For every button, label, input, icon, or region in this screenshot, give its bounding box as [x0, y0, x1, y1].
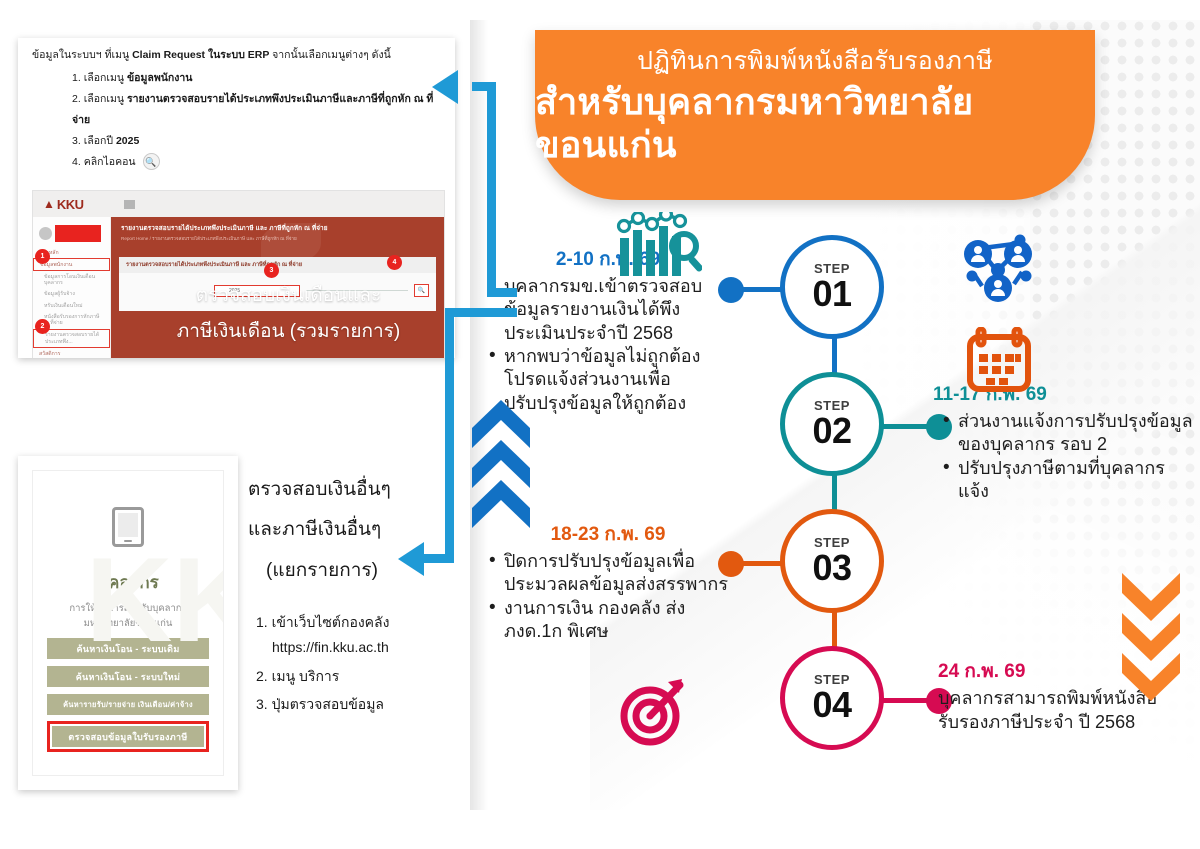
- connector-bottom-vertical: [445, 308, 454, 563]
- doc-step-3-num: 3.: [72, 135, 81, 147]
- timeline-panel: ปฏิทินการพิมพ์หนังสือรับรองภาษี สำหรับบุ…: [470, 20, 1200, 810]
- target-icon: [618, 674, 690, 751]
- annotation-step-1-text: เข้าเว็บไซต์กองคลัง: [272, 614, 390, 630]
- erp-overlay-caption: ตรวจสอบเงินเดือนและ ภาษีเงินเดือน (รวมรา…: [128, 278, 449, 350]
- erp-instructions-card: ข้อมูลในระบบฯ ที่เมนู Claim Request ในระ…: [18, 38, 455, 358]
- doc-step-2: 2. เลือกเมนู รายงานตรวจสอบรายได้ประเภทพึ…: [72, 89, 443, 131]
- callout-badge-1: 1: [35, 249, 50, 264]
- hamburger-icon[interactable]: [124, 200, 135, 209]
- tablet-icon: [112, 507, 144, 547]
- doc-step-4: 4. คลิกไอคอน 🔍: [72, 152, 443, 173]
- overlay-line-1: ตรวจสอบเงินเดือนและ: [128, 278, 449, 314]
- watermark: KK: [86, 531, 224, 669]
- step-circle-1[interactable]: STEP 01: [780, 235, 884, 339]
- btn-check-tax-cert-highlight: ตรวจสอบข้อมูลใบรับรองภาษี: [47, 721, 209, 752]
- kku-logo: KKU: [57, 197, 84, 212]
- btn-check-tax-cert[interactable]: ตรวจสอบข้อมูลใบรับรองภาษี: [52, 726, 204, 747]
- step-3-bullet-0: ปิดการปรับปรุงข้อมูลเพื่อประมวลผลข้อมูลส…: [488, 550, 728, 597]
- doc-step-3-text: เลือกปี: [84, 135, 116, 147]
- kku-service-card: KK บุคลากร การให้บริการสำหรับบุคลากร มหา…: [18, 456, 238, 790]
- doc-step-2-bold: รายงานตรวจสอบรายได้ประเภทพึงประเมินภาษีแ…: [72, 93, 433, 126]
- step-number-4: 04: [812, 687, 851, 723]
- annotation-step-1: 1. เข้าเว็บไซต์กองคลัง https://fin.kku.a…: [256, 613, 448, 657]
- overlay-line-2: ภาษีเงินเดือน (รวมรายการ): [128, 314, 449, 350]
- callout-badge-4: 4: [387, 255, 402, 270]
- sidebar-item-transfer-data[interactable]: ข้อมูลการโอนเงินเดือนบุคลากร: [33, 271, 110, 288]
- btn-find-income-expense[interactable]: ค้นหารายรับ/รายจ่าย เงินเดือน/ค่าจ้าง: [47, 694, 209, 715]
- annotation-step-3: 3. ปุ่มตรวจสอบข้อมูล: [256, 695, 448, 714]
- step-2-bullet-1: ปรับปรุงภาษีตามที่บุคลากรแจ้ง: [942, 457, 1195, 504]
- callout-badge-3: 3: [264, 263, 279, 278]
- redacted-name-bar: [55, 225, 101, 242]
- decor-leaf-1: [261, 223, 321, 263]
- annotation-step-2-text: เมนู บริการ: [272, 668, 340, 684]
- erp-sidebar: หน้าหลัก ข้อมูลพนักงาน ข้อมูลการโอนเงินเ…: [33, 217, 111, 358]
- doc-header: ข้อมูลในระบบฯ ที่เมนู Claim Request ในระ…: [18, 38, 455, 177]
- connector-top-tail: [487, 288, 517, 297]
- step-2-text-block: 11-17 ก.พ. 69 ส่วนงานแจ้งการปรับปรุงข้อม…: [933, 383, 1195, 503]
- doc-step-3: 3. เลือกปี 2025: [72, 131, 443, 152]
- step-2-bullet-0: ส่วนงานแจ้งการปรับปรุงข้อมูลของบุคลากร ร…: [942, 410, 1195, 457]
- doc-step-1-text: เลือกเมนู: [84, 72, 127, 84]
- doc-intro-bold-claim: Claim Request: [132, 49, 205, 61]
- step-circle-3[interactable]: STEP 03: [780, 509, 884, 613]
- erp-avatar-row: [33, 223, 110, 247]
- step-circle-4[interactable]: STEP 04: [780, 646, 884, 750]
- btn-find-transfer-new[interactable]: ค้นหาเงินโอน - ระบบใหม่: [47, 666, 209, 687]
- kku-flame-icon: ▲: [43, 197, 55, 211]
- doc-step-1: 1. เลือกเมนู ข้อมูลพนักงาน: [72, 68, 443, 89]
- annotation-block: ตรวจสอบเงินอื่นๆ และภาษีเงินอื่นๆ (แยกรา…: [248, 470, 448, 724]
- connector-bottom-tail: [422, 554, 454, 563]
- annotation-step-1-url[interactable]: https://fin.kku.ac.th: [272, 638, 448, 657]
- doc-intro-line: ข้อมูลในระบบฯ ที่เมนู Claim Request ในระ…: [32, 48, 443, 64]
- connector-top-vertical: [487, 82, 496, 297]
- annotation-step-3-num: 3.: [256, 696, 268, 712]
- doc-intro-suffix: จากนั้นเลือกเมนูต่างๆ ดังนี้: [272, 49, 391, 61]
- step-circle-2[interactable]: STEP 02: [780, 372, 884, 476]
- step-3-bullets: ปิดการปรับปรุงข้อมูลเพื่อประมวลผลข้อมูลส…: [488, 550, 728, 644]
- annotation-steps: 1. เข้าเว็บไซต์กองคลัง https://fin.kku.a…: [256, 613, 448, 715]
- chevron-down-stack-orange: [1118, 565, 1184, 713]
- doc-step-1-num: 1.: [72, 72, 81, 84]
- doc-step-4-num: 4.: [72, 156, 81, 168]
- infographic-page: ปฏิทินการพิมพ์หนังสือรับรองภาษี สำหรับบุ…: [0, 0, 1200, 849]
- annotation-line-1: ตรวจสอบเงินอื่นๆ: [248, 470, 448, 510]
- step-3-bullet-1: งานการเงิน กองคลัง ส่ง ภงด.1ก พิเศษ: [488, 597, 728, 644]
- network-people-icon: [960, 232, 1036, 309]
- annotation-step-1-num: 1.: [256, 614, 268, 630]
- chart-search-icon: [616, 212, 702, 291]
- step-number-1: 01: [812, 276, 851, 312]
- doc-intro-prefix: ข้อมูลในระบบฯ ที่เมนู: [32, 49, 132, 61]
- doc-step-1-bold: ข้อมูลพนักงาน: [127, 72, 193, 84]
- step-2-bullets: ส่วนงานแจ้งการปรับปรุงข้อมูลของบุคลากร ร…: [942, 410, 1195, 504]
- sidebar-item-contractor-data[interactable]: ข้อมูลผู้รับจ้าง: [33, 289, 110, 300]
- annotation-step-2: 2. เมนู บริการ: [256, 667, 448, 686]
- connector-bottom-top-horizontal: [445, 308, 517, 317]
- doc-step-2-num: 2.: [72, 93, 81, 105]
- arrowhead-top: [432, 70, 458, 104]
- doc-step-3-bold: 2025: [116, 135, 139, 147]
- step-number-2: 02: [812, 413, 851, 449]
- chevron-up-stack-blue: [470, 392, 534, 540]
- step-3-text-block: 18-23 ก.พ. 69 ปิดการปรับปรุงข้อมูลเพื่อป…: [488, 523, 728, 643]
- doc-step-2-text: เลือกเมนู: [84, 93, 127, 105]
- erp-topbar: ▲ KKU: [33, 191, 444, 217]
- sidebar-item-new-salary[interactable]: หรับเงินเดือนใหม่: [33, 300, 110, 311]
- doc-steps-list: 1. เลือกเมนู ข้อมูลพนักงาน 2. เลือกเมนู …: [72, 68, 443, 173]
- step-number-3: 03: [812, 550, 851, 586]
- search-icon: 🔍: [143, 153, 160, 170]
- sidebar-item-welfare[interactable]: สวัสดิการ: [33, 348, 110, 358]
- callout-badge-2: 2: [35, 319, 50, 334]
- annotation-step-2-num: 2.: [256, 668, 268, 684]
- kku-service-inner: KK บุคลากร การให้บริการสำหรับบุคลากร มหา…: [32, 470, 224, 776]
- calendar-icon: [966, 327, 1032, 400]
- avatar: [39, 227, 52, 240]
- doc-intro-mid: ในระบบ ERP: [205, 49, 272, 61]
- doc-step-4-text: คลิกไอคอน: [84, 156, 136, 168]
- annotation-step-3-text: ปุ่มตรวจสอบข้อมูล: [272, 696, 384, 712]
- arrowhead-bottom: [398, 542, 424, 576]
